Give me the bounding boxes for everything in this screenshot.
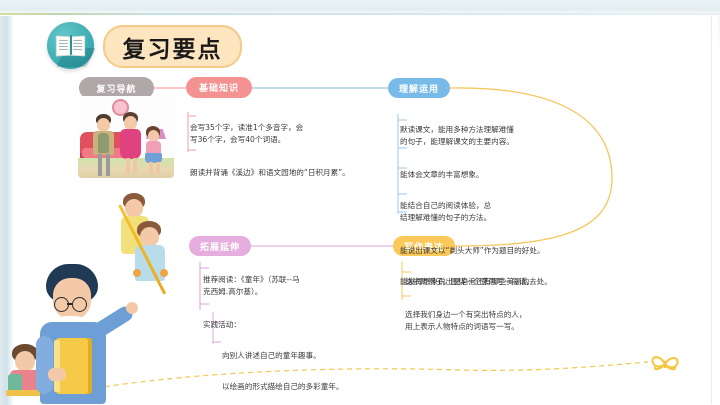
list-item: 推荐阅读：《童年》（苏联--马 克西姆.高尔基）。 bbox=[203, 274, 383, 298]
extension-items: 推荐阅读：《童年》（苏联--马 克西姆.高尔基）。 实践活动： 向别人讲述自己的… bbox=[203, 262, 383, 405]
book-page-right bbox=[70, 36, 85, 57]
list-subitem: 以绘画的形式描绘自己的多彩童年。 bbox=[222, 381, 383, 393]
page-title-text: 复习要点 bbox=[123, 30, 223, 64]
open-book-icon bbox=[47, 22, 94, 69]
writing-expression-items: 能依照例子，围绕一个意思写一段话。 选择我们身边一个有突出特点的人， 用上表示人… bbox=[405, 264, 620, 354]
node-extension[interactable]: 拓展延伸 bbox=[189, 236, 251, 256]
node-basic-knowledge[interactable]: 基础知识 bbox=[186, 77, 252, 98]
frame-top-accent-line bbox=[0, 13, 720, 15]
node-understanding-application-label: 理解运用 bbox=[399, 82, 439, 95]
list-item: 能依照例子，围绕一个意思写一段话。 bbox=[405, 276, 620, 288]
list-item: 选择我们身边一个有突出特点的人， 用上表示人物特点的词语写一写。 bbox=[405, 309, 620, 333]
book-icon-pages bbox=[56, 36, 85, 55]
node-basic-knowledge-label: 基础知识 bbox=[199, 81, 239, 94]
list-subitem: 向别人讲述自己的童年趣事。 bbox=[222, 350, 383, 362]
node-review-navigation-label: 复习导航 bbox=[96, 82, 136, 95]
list-item: 能说出课文以“剃头大师”作为题目的好处。 bbox=[400, 245, 635, 257]
butterfly-icon bbox=[648, 352, 682, 376]
book-page-left bbox=[56, 36, 71, 57]
list-item: 朗读并背诵《溪边》和语文园地的“日积月累”。 bbox=[190, 167, 395, 179]
teacher-illustration bbox=[6, 262, 171, 405]
list-item: 实践活动： bbox=[203, 319, 383, 331]
node-understanding-application[interactable]: 理解运用 bbox=[388, 78, 450, 98]
list-item: 能结合自己的阅读体验，总 结理解难懂的句子的方法。 bbox=[400, 200, 635, 224]
family-illustration bbox=[78, 96, 174, 178]
list-item: 能体会文章的丰富想象。 bbox=[400, 169, 635, 181]
list-item: 默读课文，能用多种方法理解难懂 的句子，能理解课文的主要内容。 bbox=[400, 124, 635, 148]
page-title: 复习要点 bbox=[103, 25, 242, 68]
book-spine bbox=[70, 35, 72, 55]
basic-knowledge-items: 会写35个字，读准1个多音字，会 写36个字，会写40个词语。 朗读并背诵《溪边… bbox=[190, 110, 395, 200]
list-item: 会写35个字，读准1个多音字，会 写36个字，会写40个词语。 bbox=[190, 122, 395, 146]
slide-canvas: 复习要点 复习导航 bbox=[0, 0, 720, 405]
node-extension-label: 拓展延伸 bbox=[200, 240, 240, 253]
frame-right-edge bbox=[711, 16, 712, 404]
